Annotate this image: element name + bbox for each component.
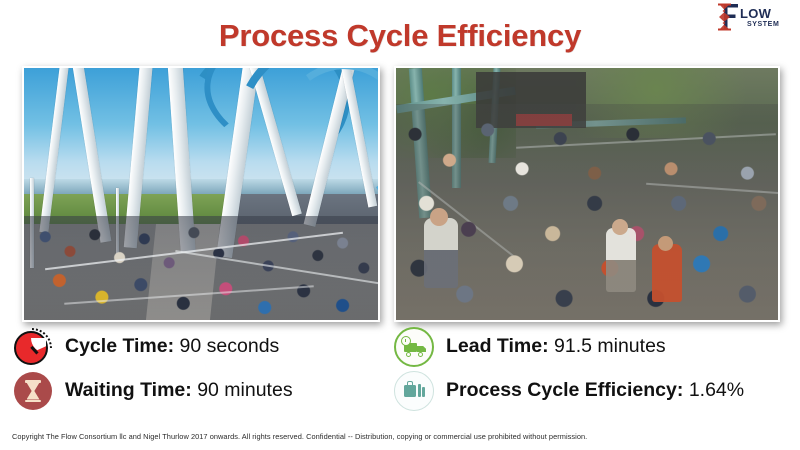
metric-waiting-time: Waiting Time: 90 minutes <box>12 370 293 412</box>
stopwatch-icon <box>12 326 54 368</box>
metric-pce-separator: : <box>677 379 689 401</box>
metric-cycle-time: Cycle Time: 90 seconds <box>12 326 279 368</box>
metric-waiting-time-separator: : <box>185 379 197 401</box>
metric-pce-label: Process Cycle Efficiency <box>446 379 677 401</box>
briefcase-icon <box>393 370 435 412</box>
metric-lead-time: Lead Time: 91.5 minutes <box>393 326 666 368</box>
metric-lead-time-separator: : <box>542 335 554 357</box>
metric-cycle-time-separator: : <box>168 335 180 357</box>
metric-cycle-time-text: Cycle Time: 90 seconds <box>65 337 279 357</box>
metric-lead-time-text: Lead Time: 91.5 minutes <box>446 337 666 357</box>
theme-park-crowd-photo <box>394 66 780 322</box>
copyright-footer: Copyright The Flow Consortium llc and Ni… <box>12 432 587 441</box>
metric-cycle-time-value: 90 seconds <box>180 335 280 357</box>
roller-coaster-queue-photo <box>22 66 380 322</box>
delivery-truck-clock-icon <box>393 326 435 368</box>
metric-pce-text: Process Cycle Efficiency: 1.64% <box>446 381 744 401</box>
slide-title: Process Cycle Efficiency <box>0 18 800 54</box>
metric-lead-time-value: 91.5 minutes <box>554 335 666 357</box>
hourglass-icon <box>12 370 54 412</box>
metric-waiting-time-label: Waiting Time <box>65 379 185 401</box>
metric-waiting-time-text: Waiting Time: 90 minutes <box>65 381 293 401</box>
metric-lead-time-label: Lead Time <box>446 335 542 357</box>
metric-cycle-time-label: Cycle Time <box>65 335 168 357</box>
metric-process-cycle-efficiency: Process Cycle Efficiency: 1.64% <box>393 370 744 412</box>
metric-pce-value: 1.64% <box>689 379 744 401</box>
metric-waiting-time-value: 90 minutes <box>197 379 292 401</box>
